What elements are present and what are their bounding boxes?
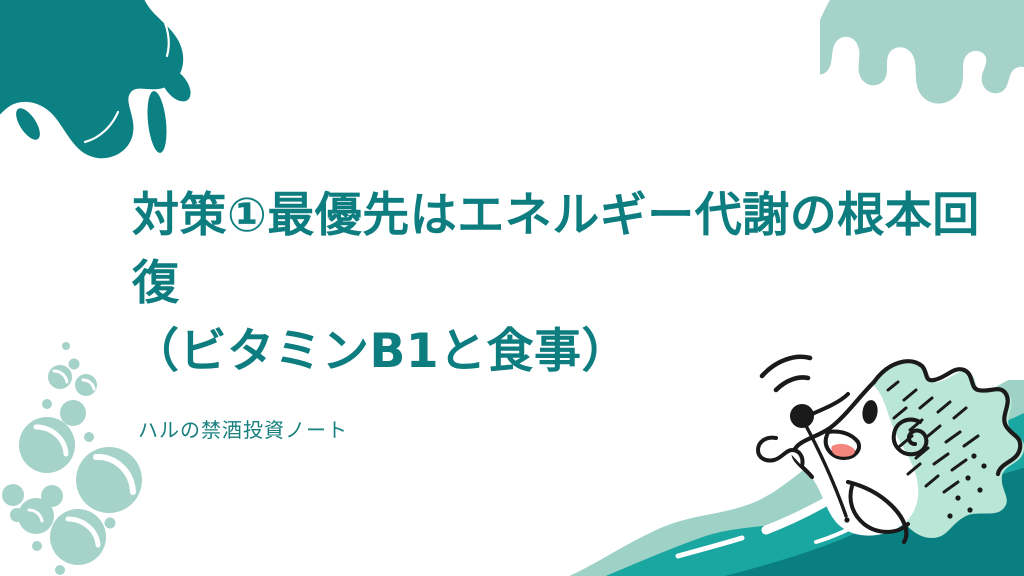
splash-topleft-decoration (0, 0, 290, 200)
text-block: 対策①最優先はエネルギー代謝の根本回復 （ビタミンB1と食事） ハルの禁酒投資ノ… (132, 182, 1012, 443)
page-title: 対策①最優先はエネルギー代謝の根本回復 （ビタミンB1と食事） (132, 182, 1012, 386)
drip-topright-decoration (820, 0, 1024, 140)
page-subtitle: ハルの禁酒投資ノート (132, 386, 1012, 443)
title-slide: 対策①最優先はエネルギー代謝の根本回復 （ビタミンB1と食事） ハルの禁酒投資ノ… (0, 0, 1024, 576)
